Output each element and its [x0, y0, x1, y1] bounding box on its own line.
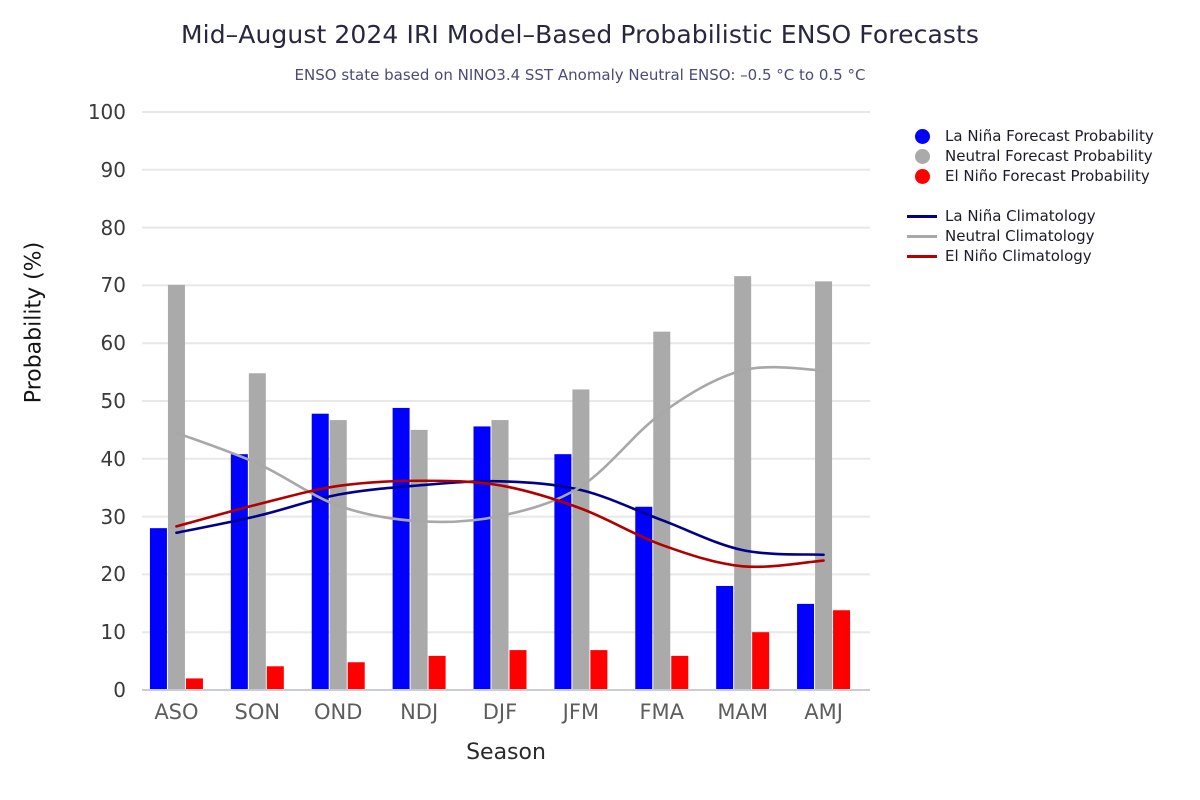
plot-area: [142, 112, 870, 690]
bar: [554, 454, 571, 690]
bar: [231, 454, 248, 690]
legend-item[interactable]: El Niño Climatology: [905, 246, 1190, 266]
y-axis-tick-label: 80: [56, 216, 126, 240]
legend-item[interactable]: El Niño Forecast Probability: [905, 166, 1190, 186]
legend-item-label: El Niño Forecast Probability: [939, 167, 1150, 185]
y-axis-tick-label: 0: [56, 678, 126, 702]
line-swatch-icon: [905, 235, 939, 238]
bar: [833, 610, 850, 690]
bar: [249, 373, 266, 690]
circle-marker-icon: [905, 169, 939, 184]
legend-item[interactable]: La Niña Climatology: [905, 206, 1190, 226]
bar: [492, 420, 509, 690]
bar: [510, 650, 527, 690]
bar: [393, 408, 410, 690]
y-axis-tick-label: 10: [56, 620, 126, 644]
circle-marker: [915, 149, 930, 164]
bar: [267, 666, 284, 690]
circle-marker: [915, 129, 930, 144]
y-axis-tick-label: 60: [56, 331, 126, 355]
bar: [734, 276, 751, 690]
bar: [716, 586, 733, 690]
bar: [572, 389, 589, 690]
bar: [429, 656, 446, 690]
y-axis-title: Probability (%): [22, 203, 47, 443]
legend-spacer: [905, 186, 1190, 206]
bar: [168, 285, 185, 690]
y-axis-tick-label: 50: [56, 389, 126, 413]
bar: [653, 332, 670, 690]
bar: [348, 662, 365, 690]
circle-marker-icon: [905, 149, 939, 164]
line-swatch-icon: [905, 255, 939, 258]
chart-title: Mid–August 2024 IRI Model–Based Probabil…: [0, 20, 1160, 49]
bar: [671, 656, 688, 690]
bar: [411, 430, 428, 690]
legend-marker-group: La Niña Forecast ProbabilityNeutral Fore…: [905, 126, 1190, 186]
chart-subtitle: ENSO state based on NINO3.4 SST Anomaly …: [0, 66, 1160, 84]
bar: [752, 632, 769, 690]
x-axis-tick-labels: ASOSONONDNDJDJFJFMFMAMAMAMJ: [142, 700, 870, 734]
line-swatch-icon: [905, 215, 939, 218]
x-axis-title: Season: [142, 740, 870, 765]
y-axis-tick-labels: 1009080706050403020100: [52, 112, 126, 690]
y-axis-tick-label: 70: [56, 273, 126, 297]
chart-legend: La Niña Forecast ProbabilityNeutral Fore…: [905, 126, 1190, 266]
legend-item[interactable]: Neutral Forecast Probability: [905, 146, 1190, 166]
bar: [186, 678, 203, 690]
y-axis-tick-label: 90: [56, 158, 126, 182]
line-swatch: [907, 255, 937, 258]
legend-item-label: Neutral Climatology: [939, 227, 1095, 245]
legend-item-label: La Niña Forecast Probability: [939, 127, 1154, 145]
line-swatch: [907, 235, 937, 238]
y-axis-tick-label: 30: [56, 505, 126, 529]
x-axis-tick-label: AMJ: [764, 700, 884, 724]
legend-item-label: La Niña Climatology: [939, 207, 1096, 225]
circle-marker-icon: [905, 129, 939, 144]
y-axis-tick-label: 40: [56, 447, 126, 471]
legend-item[interactable]: La Niña Forecast Probability: [905, 126, 1190, 146]
bar: [815, 281, 832, 690]
plot-svg: [142, 112, 870, 690]
bar: [797, 604, 814, 690]
legend-item-label: El Niño Climatology: [939, 247, 1092, 265]
chart-root: Mid–August 2024 IRI Model–Based Probabil…: [0, 0, 1200, 800]
line-swatch: [907, 215, 937, 218]
y-axis-tick-label: 100: [56, 100, 126, 124]
bar: [150, 528, 167, 690]
bar: [474, 426, 491, 690]
circle-marker: [915, 169, 930, 184]
bar: [590, 650, 607, 690]
legend-item[interactable]: Neutral Climatology: [905, 226, 1190, 246]
legend-item-label: Neutral Forecast Probability: [939, 147, 1153, 165]
bar: [330, 420, 347, 690]
y-axis-tick-label: 20: [56, 562, 126, 586]
legend-line-group: La Niña ClimatologyNeutral ClimatologyEl…: [905, 206, 1190, 266]
bars-layer: [150, 276, 850, 690]
bar: [312, 414, 329, 690]
